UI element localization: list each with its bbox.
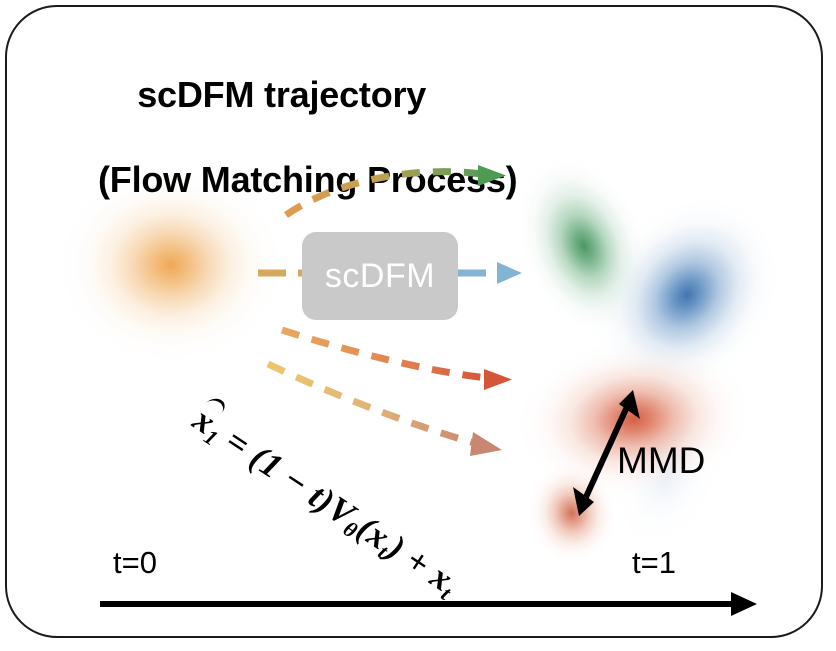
time-label-start: t=0 xyxy=(113,545,157,581)
mmd-label: MMD xyxy=(617,440,705,482)
scdfm-processor-box[interactable]: scDFM xyxy=(302,232,458,320)
time-label-end: t=1 xyxy=(632,545,676,581)
scdfm-box-label: scDFM xyxy=(325,257,435,296)
title-line-2: (Flow Matching Process) xyxy=(98,159,517,201)
title-line-1: scDFM trajectory xyxy=(137,74,426,115)
figure-canvas: scDFM trajectory (Flow Matching Process)… xyxy=(0,0,836,651)
